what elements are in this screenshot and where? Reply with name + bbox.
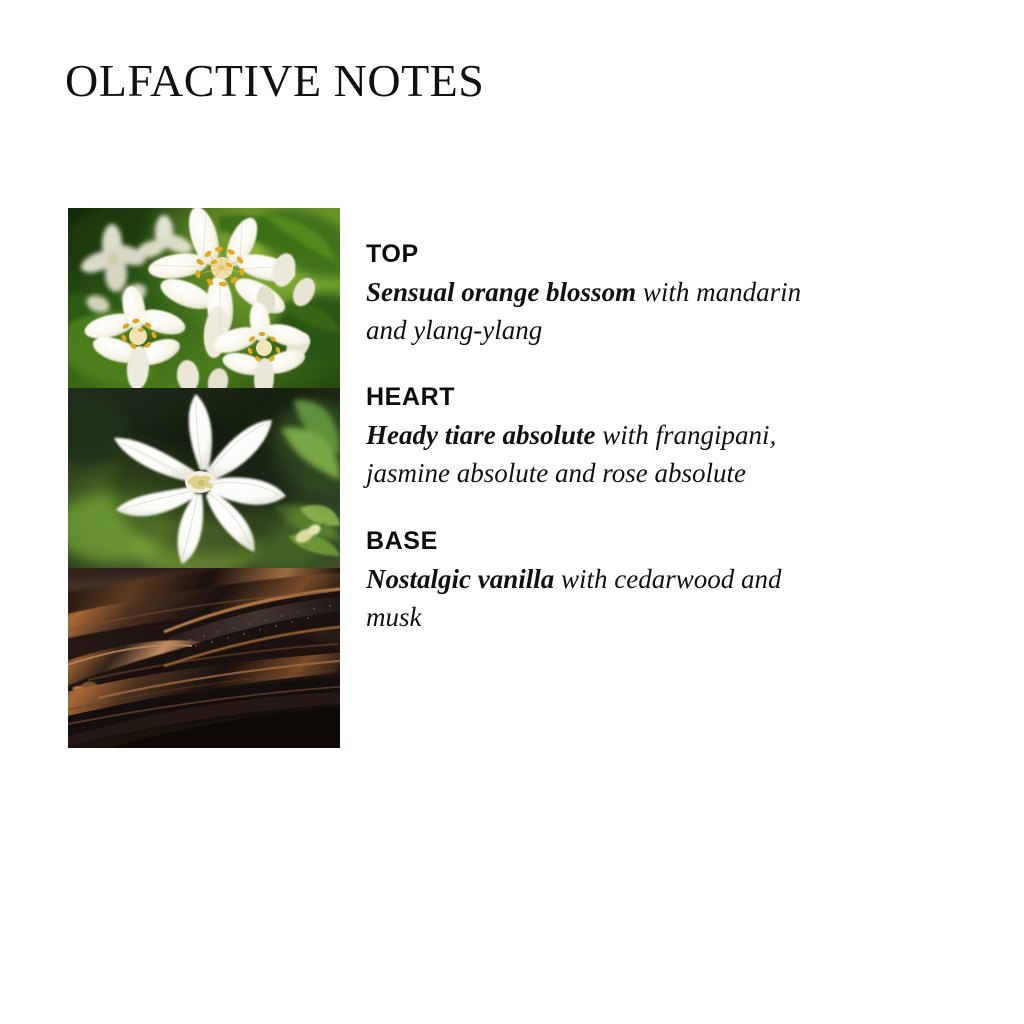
note-label-heart: HEART bbox=[366, 383, 836, 412]
tiare-flower-photo bbox=[68, 388, 340, 568]
note-block-heart: HEART Heady tiare absolute with frangipa… bbox=[366, 383, 836, 492]
note-block-top: TOP Sensual orange blossom with mandarin… bbox=[366, 240, 836, 349]
note-block-base: BASE Nostalgic vanilla with cedarwood an… bbox=[366, 527, 836, 636]
page-title: OLFACTIVE NOTES bbox=[65, 56, 484, 107]
note-lead-base: Nostalgic vanilla bbox=[366, 564, 554, 594]
olfactive-notes-list: TOP Sensual orange blossom with mandarin… bbox=[366, 240, 836, 636]
note-description-top: Sensual orange blossom with mandarin and… bbox=[366, 273, 836, 350]
note-lead-heart: Heady tiare absolute bbox=[366, 420, 595, 450]
note-description-heart: Heady tiare absolute with frangipani, ja… bbox=[366, 416, 836, 493]
note-label-base: BASE bbox=[366, 527, 836, 556]
olfactive-image-column bbox=[68, 208, 340, 748]
vanilla-pods-photo bbox=[68, 568, 340, 748]
orange-blossom-photo bbox=[68, 208, 340, 388]
note-label-top: TOP bbox=[366, 240, 836, 269]
note-description-base: Nostalgic vanilla with cedarwood and mus… bbox=[366, 560, 836, 637]
note-lead-top: Sensual orange blossom bbox=[366, 277, 636, 307]
